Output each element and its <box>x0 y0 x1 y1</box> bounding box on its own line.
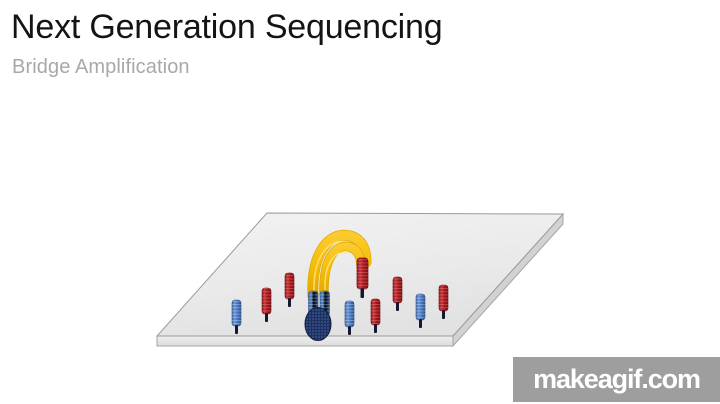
flow-cell-front-face <box>157 336 453 346</box>
makeagif-watermark: makeagif.com <box>513 357 720 402</box>
bridge-amplification-diagram <box>0 0 720 404</box>
slide-canvas: Next Generation Sequencing Bridge Amplif… <box>0 0 720 404</box>
polymerase-enzyme <box>305 308 331 341</box>
watermark-text: makeagif.com <box>533 366 700 393</box>
